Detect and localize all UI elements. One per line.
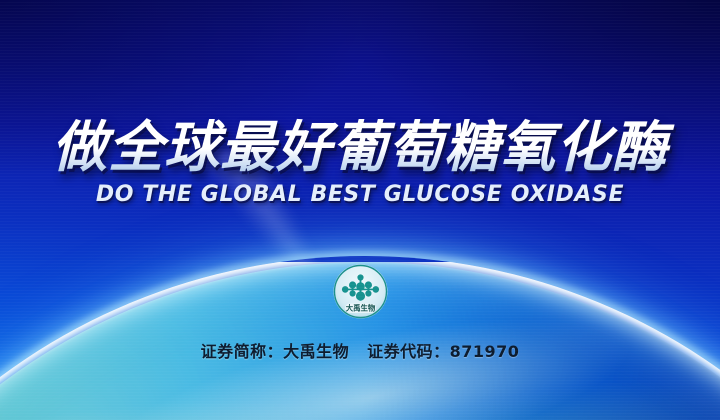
- promotional-banner: 做全球最好葡萄糖氧化酶 DO THE GLOBAL BEST GLUCOSE O…: [0, 0, 720, 420]
- headline-block: 做全球最好葡萄糖氧化酶 DO THE GLOBAL BEST GLUCOSE O…: [0, 118, 720, 207]
- stock-info-line: 证券简称：大禹生物证券代码：871970: [0, 338, 720, 362]
- logo-wordmark: 大禹生物: [346, 304, 376, 313]
- stock-name-label: 证券简称：大禹生物: [201, 342, 350, 361]
- headline-chinese: 做全球最好葡萄糖氧化酶: [0, 118, 720, 177]
- stock-code-label: 证券代码：871970: [367, 342, 519, 361]
- headline-english: DO THE GLOBAL BEST GLUCOSE OXIDASE: [0, 182, 720, 207]
- company-logo[interactable]: 大禹生物: [332, 263, 389, 320]
